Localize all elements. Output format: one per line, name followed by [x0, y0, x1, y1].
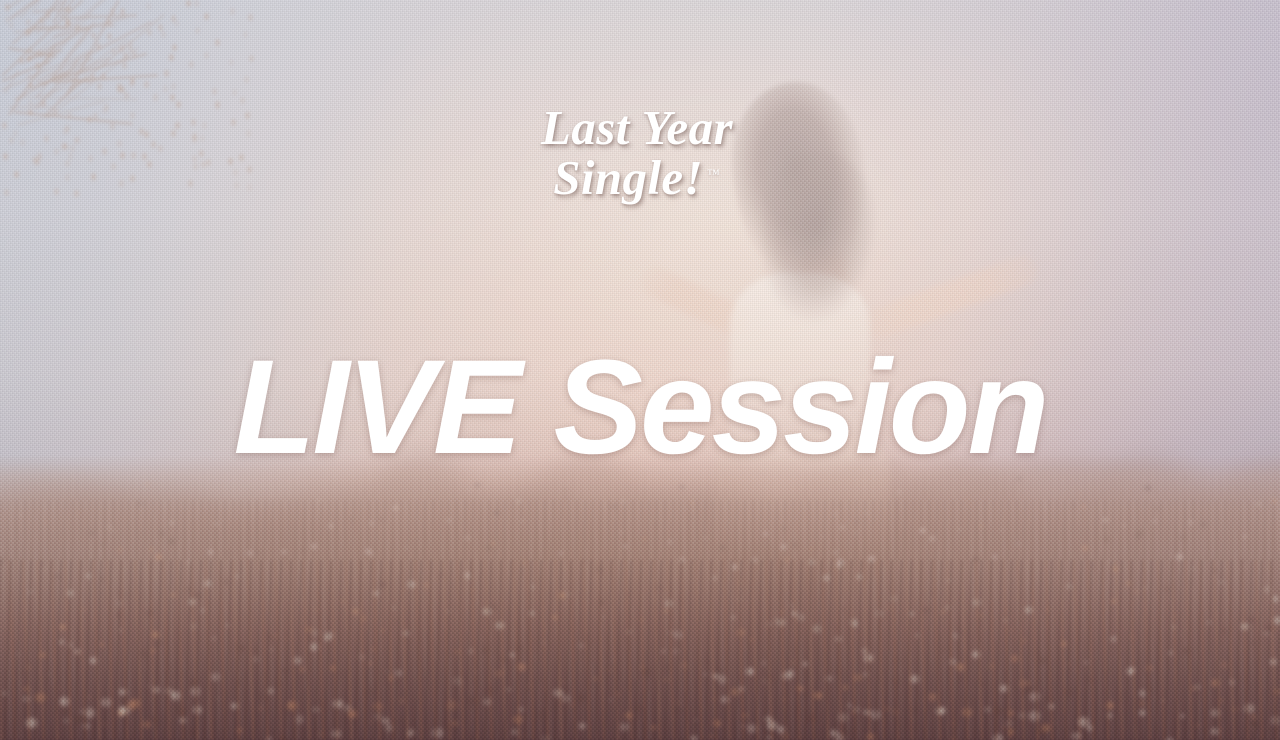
- live-session-banner: Last Year Single!™ LIVE Session: [0, 0, 1280, 740]
- trademark-symbol: ™: [707, 166, 721, 181]
- brand-line-2: Single!™: [512, 154, 762, 202]
- brand-logo: Last Year Single!™: [512, 104, 762, 202]
- brand-line-2-text: Single!: [553, 150, 703, 205]
- headline-live-session: LIVE Session: [0, 341, 1280, 475]
- brand-line-1: Last Year: [512, 104, 762, 152]
